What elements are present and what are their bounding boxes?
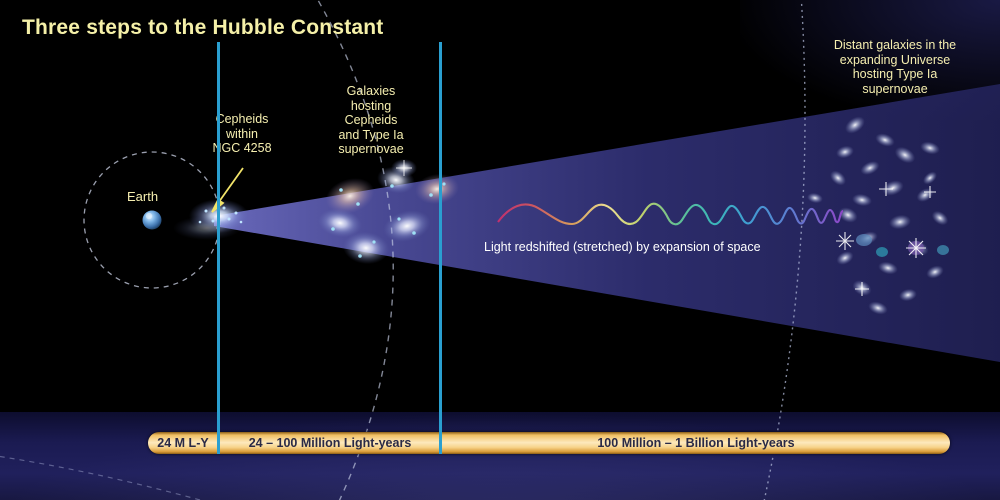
distant-galaxies-label: Distant galaxies in the expanding Univer… xyxy=(800,38,990,96)
earth-highlight xyxy=(146,213,152,219)
galaxies-hosting-label: Galaxies hosting Cepheids and Type Ia su… xyxy=(312,84,430,157)
divider-tick-100mly xyxy=(439,42,442,454)
ngc-4258-halo xyxy=(173,216,241,240)
scale-segment-2-label: 24 – 100 Million Light-years xyxy=(222,434,438,452)
scale-segment-1-label: 24 M L-Y xyxy=(150,434,216,452)
earth-label: Earth xyxy=(127,190,158,205)
redshift-caption: Light redshifted (stretched) by expansio… xyxy=(484,240,761,254)
page-title: Three steps to the Hubble Constant xyxy=(22,16,384,40)
divider-tick-24mly xyxy=(217,42,220,454)
arc-bottom-left xyxy=(0,455,200,500)
scale-segment-3-label: 100 Million – 1 Billion Light-years xyxy=(446,434,946,452)
infographic-canvas: Three steps to the Hubble Constant Earth… xyxy=(0,0,1000,500)
cepheids-ngc4258-label: Cepheids within NGC 4258 xyxy=(188,112,296,156)
earth-globe xyxy=(143,211,162,230)
